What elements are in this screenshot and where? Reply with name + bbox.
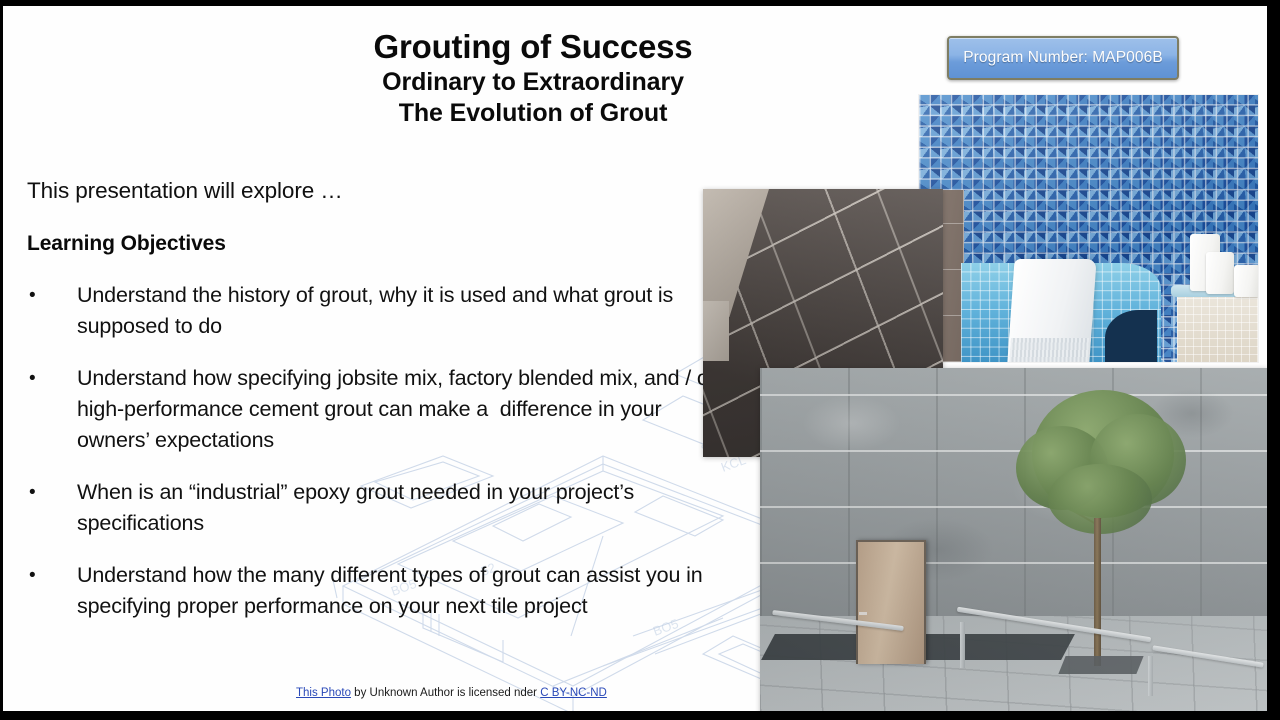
- intro-text: This presentation will explore …: [27, 178, 343, 204]
- learning-objectives-list: • Understand the history of grout, why i…: [25, 280, 725, 643]
- list-item-text: Understand the history of grout, why it …: [77, 280, 725, 342]
- candle-small: [1234, 265, 1258, 297]
- learning-objectives-heading: Learning Objectives: [27, 232, 226, 256]
- list-item: • Understand how specifying jobsite mix,…: [25, 363, 725, 456]
- bullet-marker-icon: •: [25, 363, 77, 456]
- list-item-text: Understand how specifying jobsite mix, f…: [77, 363, 725, 456]
- slide-subtitle-line-1: Ordinary to Extraordinary: [183, 67, 883, 98]
- letterbox-bar-right: [1267, 0, 1280, 720]
- slide-subtitle-line-2: The Evolution of Grout: [183, 98, 883, 129]
- list-item: • When is an “industrial” epoxy grout ne…: [25, 477, 725, 539]
- bullet-marker-icon: •: [25, 280, 77, 342]
- list-item: • Understand the history of grout, why i…: [25, 280, 725, 342]
- candle-medium: [1206, 252, 1234, 294]
- slide-title-block: Grouting of Success Ordinary to Extraord…: [183, 28, 883, 129]
- program-number-badge: Program Number: MAP006B: [947, 36, 1179, 80]
- bullet-marker-icon: •: [25, 477, 77, 539]
- this-photo-link[interactable]: This Photo: [296, 687, 351, 699]
- slide-canvas: SM KCL BO5 BO5 52 Grouting of Success Or…: [3, 6, 1267, 711]
- white-towel: [1007, 259, 1096, 362]
- photo-attribution: This Photo by Unknown Author is licensed…: [296, 687, 607, 699]
- list-item-text: When is an “industrial” epoxy grout need…: [77, 477, 725, 539]
- photo-blue-mosaic-tile-spa: [919, 95, 1258, 362]
- presentation-viewer: SM KCL BO5 BO5 52 Grouting of Success Or…: [0, 0, 1280, 720]
- bullet-marker-icon: •: [25, 560, 77, 622]
- list-item-text: Understand how the many different types …: [77, 560, 725, 622]
- page-title: Grouting of Success: [183, 28, 883, 67]
- list-item: • Understand how the many different type…: [25, 560, 725, 622]
- letterbox-bar-left: [0, 0, 3, 720]
- program-number-label: Program Number: MAP006B: [963, 49, 1163, 67]
- stone-lighting-overlay: [760, 368, 1267, 711]
- letterbox-bar-bottom: [0, 711, 1280, 720]
- attribution-middle-text: by Unknown Author is licensed nder: [351, 687, 540, 699]
- mosaic-stool: [1177, 291, 1258, 362]
- photo-gray-stone-wall-tree: [760, 368, 1267, 711]
- letterbox-bar-top: [0, 0, 1280, 6]
- license-link[interactable]: C BY-NC-ND: [540, 687, 607, 699]
